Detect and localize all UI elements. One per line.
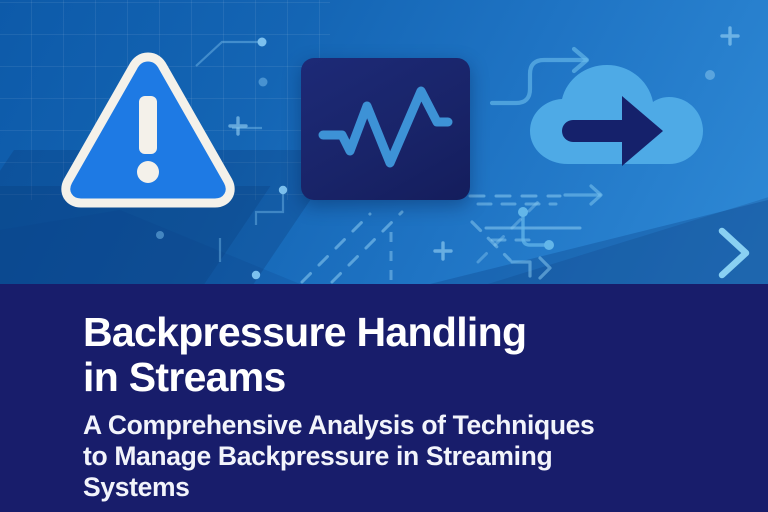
waveform-signal-icon [301,58,470,200]
dashed-flow-lines-left [478,200,540,262]
poster-root: Backpressure Handling in Streams A Compr… [0,0,768,512]
cloud-data-flow-icon [516,52,730,202]
exclamation-bar [139,96,157,154]
page-subtitle: A Comprehensive Analysis of Techniques t… [83,410,712,502]
warning-triangle-icon [60,48,236,210]
hero-banner [0,0,768,284]
dot-decoration [156,231,164,239]
page-title: Backpressure Handling in Streams [83,310,712,400]
exclamation-dot [137,161,159,183]
title-plate: Backpressure Handling in Streams A Compr… [0,284,768,512]
